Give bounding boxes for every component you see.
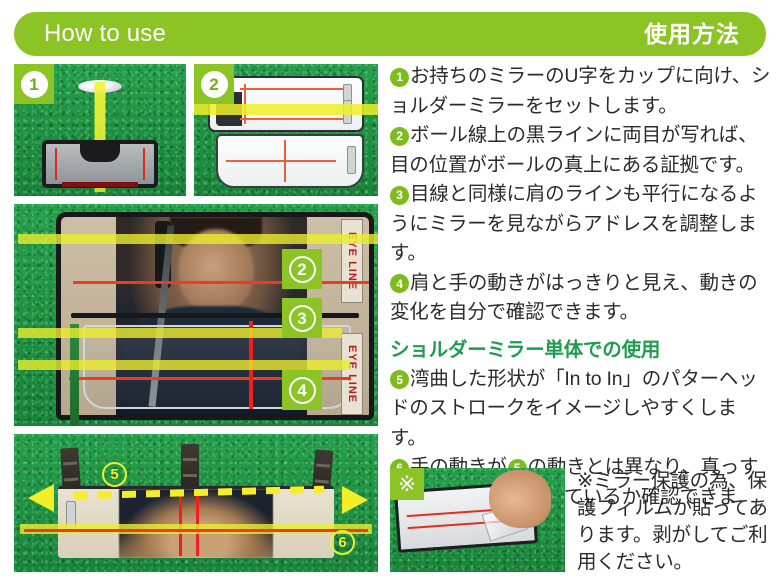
putter-shaft-green: [70, 324, 79, 426]
shoulder-mirror-device: [42, 140, 158, 188]
instruction-item-5: 5湾曲した形状が「In to In」のパターヘッドのストロークをイメージしやすく…: [390, 365, 772, 454]
photo-panel-4: 5 6: [14, 434, 378, 572]
section-heading: ショルダーミラー単体での使用: [390, 335, 772, 365]
yellow-alignment-line-3: [18, 360, 350, 370]
note-photo: ※: [390, 468, 565, 572]
stroke-arrow-left: [28, 484, 54, 512]
brand-strip: [62, 182, 138, 187]
u-shape-notch: [80, 140, 120, 162]
panel-badge-2-overlay: 2: [282, 249, 322, 289]
stroke-arrow-right: [342, 486, 368, 514]
red-line: [240, 88, 352, 90]
photo-panel-3: EYE LINE EYE LINE 2 3 4: [14, 204, 378, 426]
mirror-tag: [347, 146, 356, 174]
panel-badge-3-overlay: 3: [282, 298, 322, 338]
how-to-use-page: How to use 使用方法 1: [0, 0, 780, 580]
note-text: ※ミラー保護の為、保護フィルムが貼ってあります。剥がしてご利用ください。: [577, 468, 772, 576]
page-header-bar: How to use 使用方法: [14, 12, 766, 56]
red-line: [226, 160, 336, 162]
step-number-badge-2: 2: [390, 127, 409, 146]
brand-label-bottom: EYE LINE: [341, 333, 363, 415]
instruction-text-3: 目線と同様に肩のラインも平行になるようにミラーを見ながらアドレスを調整します。: [390, 183, 757, 264]
alignment-beam-horizontal: [194, 104, 378, 115]
kome-mark-icon: ※: [390, 468, 424, 500]
hand-peeling: [489, 470, 551, 528]
red-guide-line-right: [143, 148, 145, 180]
red-line-vertical: [284, 140, 286, 182]
panel-badge-5-overlay: 5: [102, 462, 127, 487]
instruction-item-2: 2ボール線上の黒ラインに両目が写れば、目の位置がボールの真上にある証拠です。: [390, 121, 772, 180]
red-alignment-line: [24, 529, 368, 532]
photo-panel-2: 2: [194, 64, 378, 196]
panel-badge-1: 1: [14, 64, 54, 104]
protective-film-note: ※ ※ミラー保護の為、保護フィルムが貼ってあります。剥がしてご利用ください。: [390, 468, 772, 576]
panel-badge-2: 2: [194, 64, 234, 104]
panel-badge-4-overlay: 4: [282, 370, 322, 410]
photo-panel-1: 1: [14, 64, 186, 196]
shoulder-mirror-bottom: [216, 134, 364, 188]
yellow-alignment-line-1: [18, 234, 378, 244]
panel-badge-6-overlay: 6: [330, 530, 355, 555]
red-alignment-line-eye: [73, 281, 369, 284]
instruction-item-3: 3目線と同様に肩のラインも平行になるようにミラーを見ながらアドレスを調整します。: [390, 180, 772, 269]
step-number-badge-3: 3: [390, 186, 409, 205]
brand-label-top: EYE LINE: [341, 219, 363, 303]
instruction-item-4: 4肩と手の動きがはっきりと見え、動きの変化を自分で確認できます。: [390, 269, 772, 328]
photo-column: 1 2: [14, 64, 378, 572]
red-guide-line-left: [55, 148, 57, 180]
instruction-item-1: 1お持ちのミラーのU字をカップに向け、ショルダーミラーをセットします。: [390, 62, 772, 121]
instruction-text-1: お持ちのミラーのU字をカップに向け、ショルダーミラーをセットします。: [390, 65, 770, 117]
red-line: [240, 118, 352, 120]
header-title-japanese: 使用方法: [644, 23, 740, 46]
step-number-badge-1: 1: [390, 68, 409, 87]
instruction-text-2: ボール線上の黒ラインに両目が写れば、目の位置がボールの真上にある証拠です。: [390, 124, 757, 176]
step-number-badge-4: 4: [390, 274, 409, 293]
header-title-english: How to use: [44, 22, 166, 46]
instruction-text-4: 肩と手の動きがはっきりと見え、動きの変化を自分で確認できます。: [390, 272, 757, 324]
instruction-text-5: 湾曲した形状が「In to In」のパターヘッドのストロークをイメージしやすくし…: [390, 368, 758, 449]
step-number-badge-5: 5: [390, 370, 409, 389]
